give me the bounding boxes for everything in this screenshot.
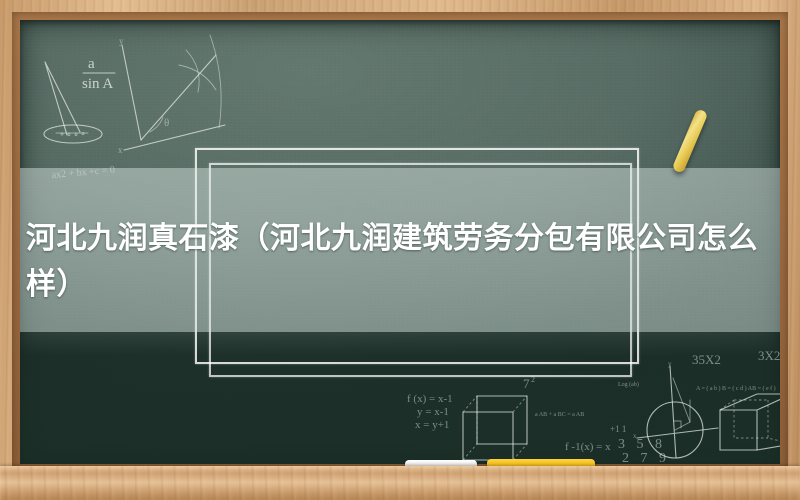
- chalkboard-surface: a sin A y x θ ax2 + bx +c = 0 f: [20, 20, 780, 464]
- chalkboard-banner: a sin A y x θ ax2 + bx +c = 0 f: [0, 0, 800, 500]
- chalk-tray-ledge: [0, 466, 800, 500]
- page-title: 河北九润真石漆（河北九润建筑劳务分包有限公司怎么样）: [26, 216, 774, 308]
- title-container: 河北九润真石漆（河北九润建筑劳务分包有限公司怎么样）: [20, 216, 780, 308]
